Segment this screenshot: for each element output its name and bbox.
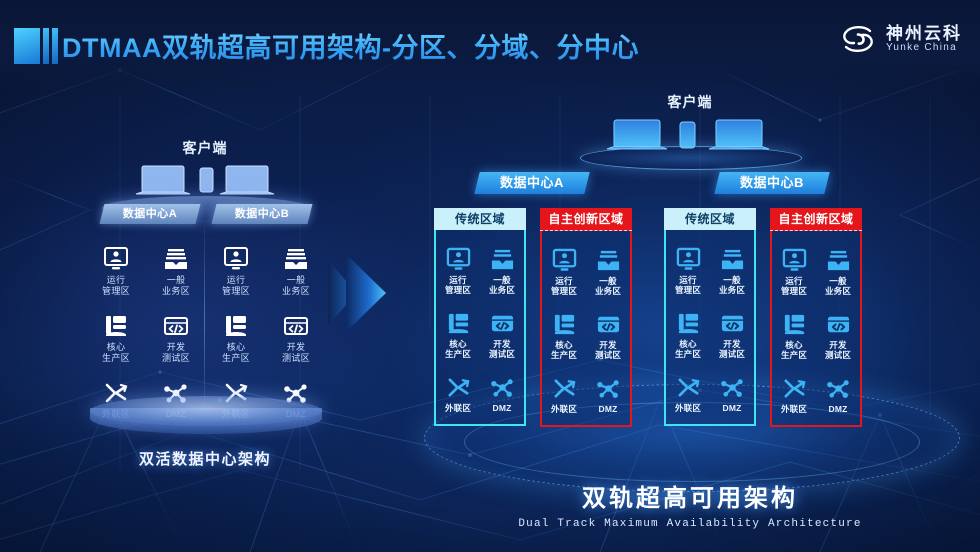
panel-zone-cell: 外联区 [436, 368, 480, 413]
panel-dcb-innovation[interactable]: 自主创新区域 运行管理区 [770, 208, 862, 430]
dual-track-architecture-diagram: 客户端 数据中心A 数据中心B [412, 84, 968, 504]
panel-zone-cell: 开发测试区 [480, 304, 524, 359]
code-window-icon [480, 304, 524, 336]
documents-tray-icon [480, 240, 524, 272]
panel-header: 自主创新区域 [540, 208, 632, 231]
server-stack-icon [86, 305, 146, 339]
galaxy-spiral-icon [838, 22, 878, 56]
panel-body: 运行管理区 一般业务区 [434, 230, 526, 426]
left-zone-cell: 开发测试区 [146, 305, 206, 364]
laptop-icon [226, 166, 268, 192]
branch-arrows-icon [436, 368, 480, 400]
panel-body: 运行管理区 一般业务区 [540, 231, 632, 427]
panel-zone-cell: 外联区 [542, 369, 586, 414]
panel-zone-row: 运行管理区 一般业务区 [772, 241, 860, 296]
panel-zone-cell: 运行管理区 [542, 241, 586, 296]
network-nodes-icon [586, 369, 630, 401]
panel-zone-row: 运行管理区 一般业务区 [542, 241, 630, 296]
user-monitor-icon [206, 238, 266, 272]
panel-header: 传统区域 [434, 208, 526, 230]
panel-header: 自主创新区域 [770, 208, 862, 231]
left-caption: 双活数据中心架构 [80, 448, 330, 469]
panel-zone-cell: 一般业务区 [816, 241, 860, 296]
panel-zone-row: 外联区 DMZ [666, 368, 754, 413]
slide-canvas: DTMAA双轨超高可用架构-分区、分域、分中心 神州云科 Yunke China… [0, 0, 980, 552]
server-stack-icon [772, 305, 816, 337]
panel-zone-row: 运行管理区 一般业务区 [666, 240, 754, 295]
documents-tray-icon [710, 240, 754, 272]
panel-zone-cell: 开发测试区 [586, 305, 630, 360]
server-stack-icon [666, 304, 710, 336]
panel-zone-cell: 开发测试区 [816, 305, 860, 360]
right-caption-cn: 双轨超高可用架构 [412, 478, 968, 513]
left-zone-cell: 核心生产区 [206, 305, 266, 364]
panel-zone-cell: 核心生产区 [436, 304, 480, 359]
left-zone-cell: 运行管理区 [206, 238, 266, 297]
panel-zone-cell: 开发测试区 [710, 304, 754, 359]
double-chevron-right-icon [326, 252, 412, 334]
slide-header: DTMAA双轨超高可用架构-分区、分域、分中心 神州云科 Yunke China [0, 0, 980, 90]
server-stack-icon [206, 305, 266, 339]
panel-zone-row: 核心生产区 开发测试区 [542, 305, 630, 360]
documents-tray-icon [146, 238, 206, 272]
panel-zone-cell: 一般业务区 [710, 240, 754, 295]
left-zone-cell: 一般业务区 [266, 238, 326, 297]
laptop-icon [716, 120, 762, 147]
panel-zone-cell: 运行管理区 [772, 241, 816, 296]
page-title: DTMAA双轨超高可用架构-分区、分域、分中心 [62, 26, 639, 65]
phone-icon [680, 122, 695, 148]
user-monitor-icon [666, 240, 710, 272]
panel-zone-cell: 运行管理区 [666, 240, 710, 295]
branch-arrows-icon [772, 369, 816, 401]
user-monitor-icon [542, 241, 586, 273]
phone-icon [200, 168, 213, 192]
left-zone-cell: 运行管理区 [86, 238, 146, 297]
panel-zone-cell: 一般业务区 [480, 240, 524, 295]
left-zone-row: 运行管理区 一般业务区 [86, 238, 326, 297]
brand-name-en: Yunke China [886, 43, 962, 54]
laptop-icon [142, 166, 184, 192]
panel-header: 传统区域 [664, 208, 756, 230]
brand-name-cn: 神州云科 [886, 25, 962, 43]
documents-tray-icon [586, 241, 630, 273]
bars-mark-icon [14, 28, 58, 64]
code-window-icon [710, 304, 754, 336]
legacy-architecture-diagram: 客户端 数据中心A 数据中心B [80, 96, 330, 466]
panel-zone-row: 核心生产区 开发测试区 [436, 304, 524, 359]
right-client-platform [580, 146, 802, 170]
left-data-center-tag-a: 数据中心A [100, 204, 201, 224]
documents-tray-icon [816, 241, 860, 273]
brand-logo: 神州云科 Yunke China [838, 22, 962, 56]
left-base-platform [90, 396, 322, 442]
left-zone-cell: 开发测试区 [266, 305, 326, 364]
panel-dca-innovation[interactable]: 自主创新区域 运行管理区 [540, 208, 632, 430]
panel-zone-cell: DMZ [710, 368, 754, 413]
panel-zone-cell: 核心生产区 [666, 304, 710, 359]
panel-zone-row: 外联区 DMZ [772, 369, 860, 414]
branch-arrows-icon [666, 368, 710, 400]
left-zone-cell: 一般业务区 [146, 238, 206, 297]
network-nodes-icon [710, 368, 754, 400]
code-window-icon [816, 305, 860, 337]
code-window-icon [146, 305, 206, 339]
panel-zone-row: 运行管理区 一般业务区 [436, 240, 524, 295]
code-window-icon [586, 305, 630, 337]
panel-dca-traditional[interactable]: 传统区域 运行管理区 [434, 208, 526, 430]
right-data-center-tag-a: 数据中心A [474, 172, 589, 194]
panel-zone-row: 核心生产区 开发测试区 [666, 304, 754, 359]
right-caption: 双轨超高可用架构 Dual Track Maximum Availability… [412, 478, 968, 530]
server-stack-icon [542, 305, 586, 337]
panel-zone-row: 核心生产区 开发测试区 [772, 305, 860, 360]
left-client-label: 客户端 [80, 138, 330, 158]
left-zone-cell: 核心生产区 [86, 305, 146, 364]
panel-body: 运行管理区 一般业务区 [664, 230, 756, 426]
right-caption-en: Dual Track Maximum Availability Architec… [412, 518, 968, 530]
panel-zone-cell: 外联区 [666, 368, 710, 413]
panel-zone-cell: 核心生产区 [772, 305, 816, 360]
panel-zone-cell: 一般业务区 [586, 241, 630, 296]
documents-tray-icon [266, 238, 326, 272]
panel-zone-cell: DMZ [480, 368, 524, 413]
network-nodes-icon [480, 368, 524, 400]
left-data-center-tag-b: 数据中心B [212, 204, 313, 224]
right-client-label: 客户端 [412, 92, 968, 112]
network-nodes-icon [816, 369, 860, 401]
panel-zone-cell: 外联区 [772, 369, 816, 414]
user-monitor-icon [436, 240, 480, 272]
left-zone-row: 核心生产区 开发测试区 [86, 305, 326, 364]
panel-zone-cell: DMZ [816, 369, 860, 414]
panel-zone-row: 外联区 DMZ [436, 368, 524, 413]
right-data-center-tag-b: 数据中心B [714, 172, 829, 194]
user-monitor-icon [772, 241, 816, 273]
panel-zone-cell: 核心生产区 [542, 305, 586, 360]
user-monitor-icon [86, 238, 146, 272]
panel-dcb-traditional[interactable]: 传统区域 运行管理区 [664, 208, 756, 430]
branch-arrows-icon [542, 369, 586, 401]
panel-body: 运行管理区 一般业务区 [770, 231, 862, 427]
server-stack-icon [436, 304, 480, 336]
code-window-icon [266, 305, 326, 339]
panel-zone-cell: DMZ [586, 369, 630, 414]
panel-zone-row: 外联区 DMZ [542, 369, 630, 414]
panel-zone-cell: 运行管理区 [436, 240, 480, 295]
laptop-icon [614, 120, 660, 147]
